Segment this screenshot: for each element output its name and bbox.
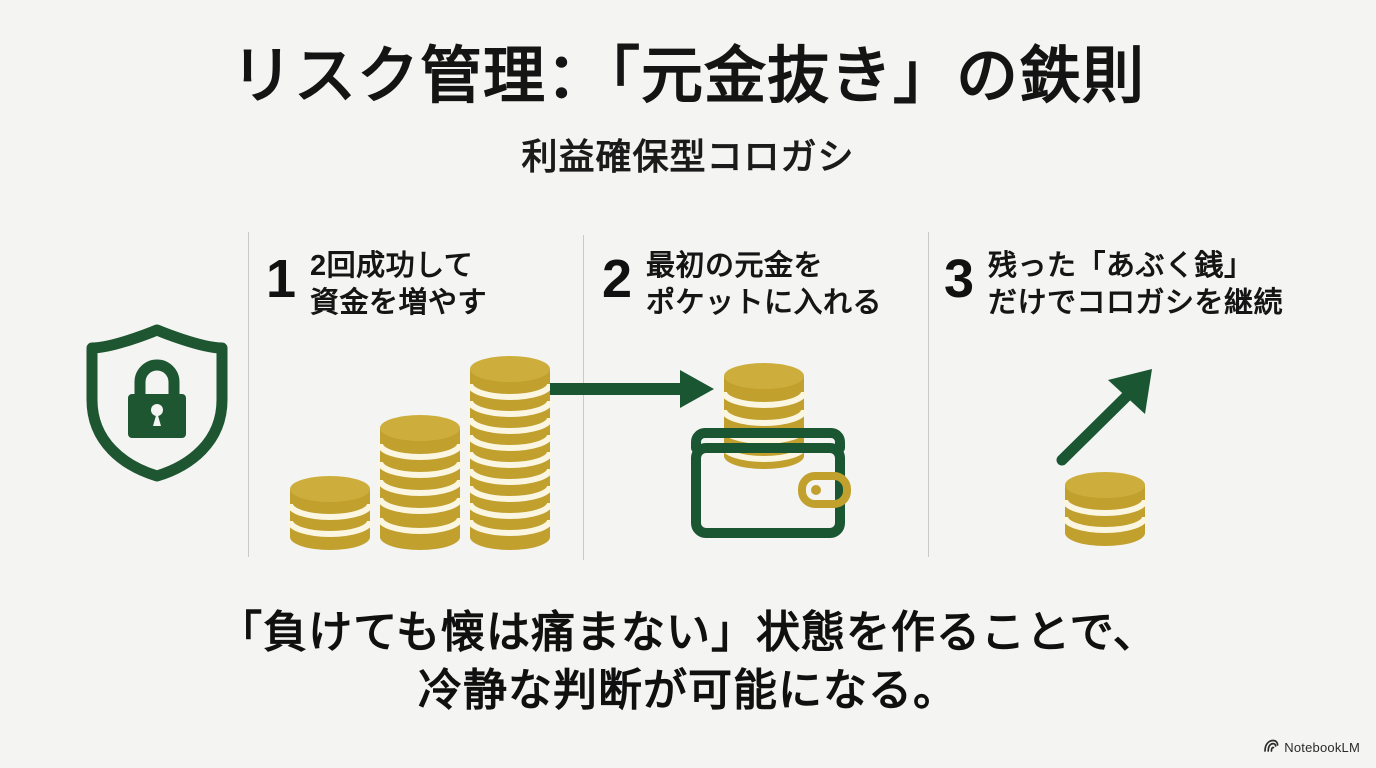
column-divider-1 xyxy=(248,232,249,557)
step-1-number: 1 xyxy=(266,252,296,306)
wallet-with-coins-icon xyxy=(546,358,886,558)
notebooklm-logo-icon xyxy=(1263,739,1279,756)
watermark-label: NotebookLM xyxy=(1284,740,1360,755)
watermark: NotebookLM xyxy=(1263,739,1360,756)
step-2-number: 2 xyxy=(602,252,632,306)
page-title: リスク管理：「元金抜き」の鉄則 xyxy=(0,42,1376,111)
step-1-label: 2回成功して 資金を増やす xyxy=(310,248,487,322)
shield-lock-icon xyxy=(82,322,232,482)
step-3-label: 残った「あぶく銭」 だけでコロガシを継続 xyxy=(988,248,1283,322)
rising-arrow-with-coins-icon xyxy=(1040,352,1250,552)
step-2-header: 2 最初の元金を ポケットに入れる xyxy=(602,248,882,322)
summary-caption: 「負けても懐は痛まない」状態を作ることで、 冷静な判断が可能になる。 xyxy=(0,604,1376,720)
column-divider-3 xyxy=(928,232,929,557)
slide-canvas: リスク管理：「元金抜き」の鉄則 利益確保型コロガシ 1 2回成功して 資金を増や… xyxy=(0,0,1376,768)
step-3-number: 3 xyxy=(944,252,974,306)
ascending-coin-stacks-icon xyxy=(276,352,566,558)
right-arrow-icon xyxy=(550,370,714,408)
step-1-header: 1 2回成功して 資金を増やす xyxy=(266,248,487,322)
step-3-header: 3 残った「あぶく銭」 だけでコロガシを継続 xyxy=(944,248,1283,322)
page-subtitle: 利益確保型コロガシ xyxy=(0,128,1376,180)
rising-arrow-icon xyxy=(1062,369,1152,460)
step-2-label: 最初の元金を ポケットに入れる xyxy=(646,248,882,322)
